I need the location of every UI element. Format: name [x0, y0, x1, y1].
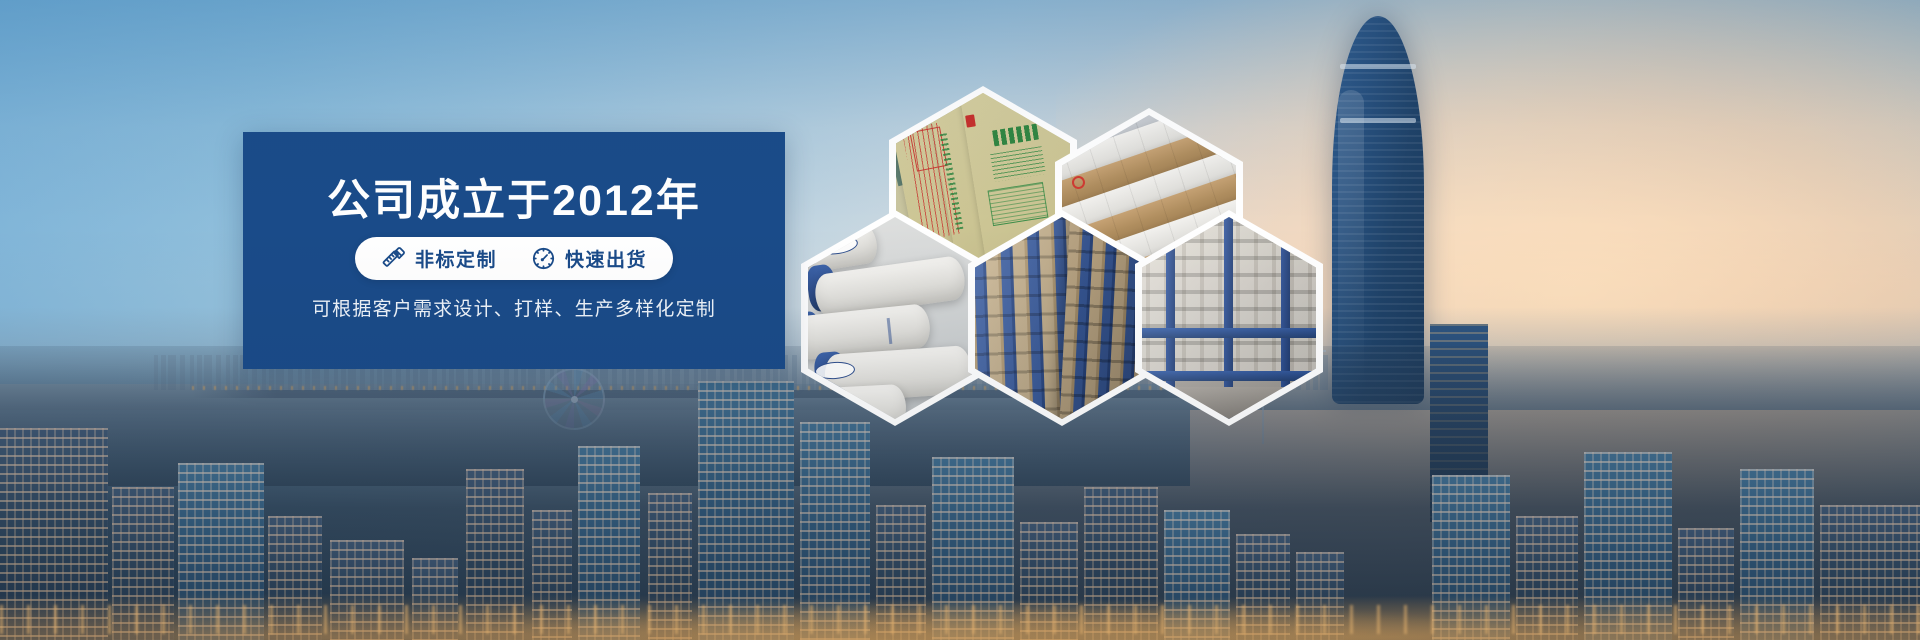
ruler-pencil-icon	[381, 246, 406, 271]
feature-badge-pill: 非标定制 快速出货	[355, 237, 673, 280]
feature-badge-custom[interactable]: 非标定制	[381, 245, 497, 272]
skyscraper-band	[1340, 64, 1416, 69]
banner-headline: 公司成立于2012年	[327, 180, 701, 223]
banner-subtitle: 可根据客户需求设计、打样、生产多样化定制	[312, 294, 716, 321]
feature-badge-custom-label: 非标定制	[415, 245, 497, 272]
hero-banner: 公司成立于2012年 非标定制	[0, 0, 1920, 640]
feature-badge-fast-shipping-label: 快速出货	[565, 245, 647, 272]
feature-badge-fast-shipping[interactable]: 快速出货	[531, 245, 647, 272]
speed-gauge-icon	[531, 246, 556, 271]
skyscraper-band	[1340, 118, 1416, 123]
street-lights	[0, 605, 1920, 634]
promo-text-panel: 公司成立于2012年 非标定制	[243, 132, 785, 369]
hexagon-photo-collage	[793, 86, 1278, 426]
